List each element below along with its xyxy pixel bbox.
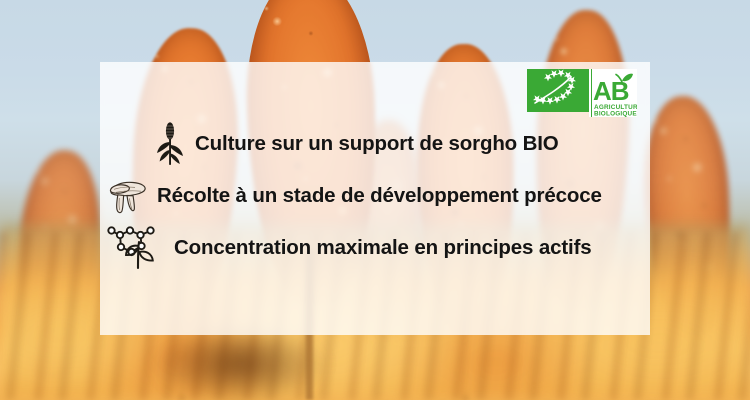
feature-item-recolte: Récolte à un stade de développement préc… <box>100 170 650 222</box>
promo-banner: AB AGRICULTURE BIOLOGIQUE <box>0 0 750 400</box>
certification-logos: AB AGRICULTURE BIOLOGIQUE <box>527 69 637 117</box>
molecule-leaf-icon <box>106 224 158 272</box>
eu-organic-leaf-icon <box>527 69 589 112</box>
ab-green-bar <box>589 69 592 117</box>
mushroom-icon <box>102 175 148 217</box>
svg-text:AB: AB <box>593 76 629 106</box>
ab-caption-line-2: BIOLOGIQUE <box>594 111 637 118</box>
feature-label: Culture sur un support de sorgho BIO <box>195 132 559 156</box>
field-dark-clump <box>150 330 330 400</box>
ab-icon: AB AGRICULTURE BIOLOGIQUE <box>589 69 637 117</box>
feature-label: Récolte à un stade de développement préc… <box>157 184 602 208</box>
feature-label: Concentration maximale en principes acti… <box>174 236 592 260</box>
sorghum-plant-icon <box>153 122 187 166</box>
feature-item-culture: Culture sur un support de sorgho BIO <box>100 118 650 170</box>
feature-item-concentration: Concentration maximale en principes acti… <box>100 222 650 274</box>
feature-list: Culture sur un support de sorgho BIO <box>100 118 650 274</box>
